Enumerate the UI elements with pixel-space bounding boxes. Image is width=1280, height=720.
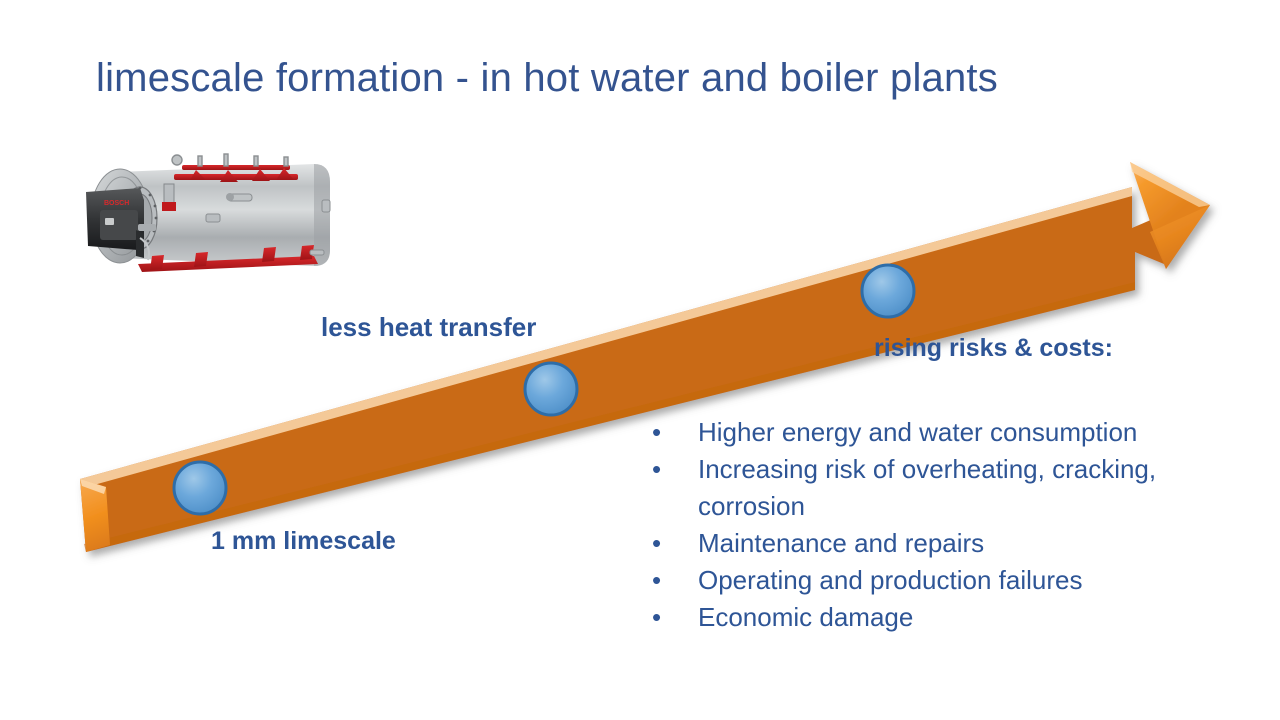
list-item-label: Maintenance and repairs [698,528,984,558]
list-item: • Higher energy and water consumption [648,414,1268,451]
slide-canvas: limescale formation - in hot water and b… [0,0,1280,720]
label-rising-risks-and-costs: rising risks & costs: [874,334,1113,363]
bullet-icon: • [652,451,661,488]
stage-marker-3 [862,265,914,317]
list-item-label: Operating and production failures [698,565,1082,595]
stage-marker-2 [525,363,577,415]
bullet-icon: • [652,599,661,636]
list-item: • Economic damage [648,599,1268,636]
list-item-label: Increasing risk of overheating, cracking… [698,454,1156,521]
bullet-list: • Higher energy and water consumption • … [648,414,1268,636]
list-item: • Maintenance and repairs [648,525,1268,562]
bullet-icon: • [652,525,661,562]
list-item: • Operating and production failures [648,562,1268,599]
label-1mm-limescale: 1 mm limescale [211,527,396,556]
list-item-label: Higher energy and water consumption [698,417,1137,447]
bullet-icon: • [652,562,661,599]
label-less-heat-transfer: less heat transfer [321,312,536,343]
bullet-icon: • [652,414,661,451]
risks-bullet-list: • Higher energy and water consumption • … [648,414,1268,636]
list-item-label: Economic damage [698,602,913,632]
stage-marker-1 [174,462,226,514]
list-item: • Increasing risk of overheating, cracki… [648,451,1268,525]
